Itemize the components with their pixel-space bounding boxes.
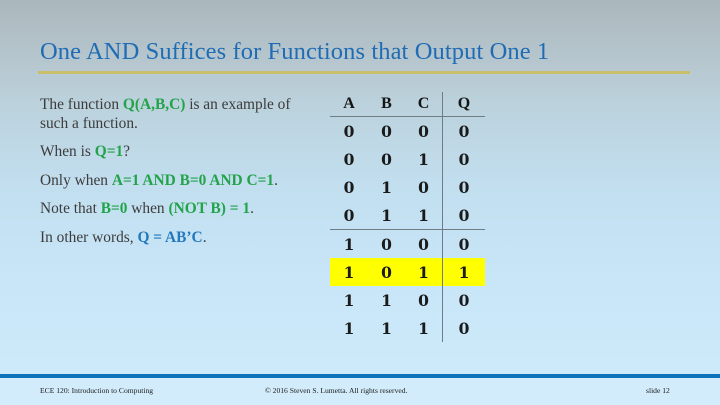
table-row: 0 0 0 0 [330, 117, 485, 146]
truth-table-grid: A B C Q 0 0 0 0 0 0 1 0 [330, 92, 485, 342]
cell-c: 0 [405, 286, 443, 314]
text-segment: . [250, 200, 254, 217]
body-text-column: The function Q(A,B,C) is an example of s… [40, 96, 312, 248]
text-segment: Note that [40, 200, 101, 217]
body-paragraph-2: When is Q=1? [40, 143, 312, 162]
cell-a: 1 [330, 314, 368, 342]
cell-q: 0 [443, 117, 486, 146]
cell-c: 0 [405, 230, 443, 259]
column-header-b: B [368, 92, 405, 117]
body-paragraph-5: In other words, Q = AB’C. [40, 229, 312, 248]
text-segment-green: A=1 AND B=0 AND C=1 [112, 172, 274, 189]
cell-b: 0 [368, 117, 405, 146]
table-row: 1 1 0 0 [330, 286, 485, 314]
truth-table-body: 0 0 0 0 0 0 1 0 0 1 0 0 0 [330, 117, 485, 343]
truth-table-header: A B C Q [330, 92, 485, 117]
text-segment-green: B=0 [101, 200, 128, 217]
cell-q: 0 [443, 314, 486, 342]
cell-b: 1 [368, 286, 405, 314]
text-segment: . [274, 172, 278, 189]
cell-q: 0 [443, 173, 486, 201]
text-segment-green: Q(A,B,C) [123, 96, 185, 113]
footer-slide-number: slide 12 [646, 386, 670, 395]
column-header-c: C [405, 92, 443, 117]
cell-b: 1 [368, 314, 405, 342]
cell-b: 1 [368, 201, 405, 230]
footer-course-label: ECE 120: Introduction to Computing [40, 386, 153, 395]
cell-b: 1 [368, 173, 405, 201]
column-header-a: A [330, 92, 368, 117]
body-paragraph-1: The function Q(A,B,C) is an example of s… [40, 96, 312, 133]
cell-c: 1 [405, 314, 443, 342]
text-segment: ? [123, 143, 130, 160]
table-row: 0 0 1 0 [330, 145, 485, 173]
cell-q: 0 [443, 201, 486, 230]
table-row-highlighted: 1 0 1 1 [330, 258, 485, 286]
cell-q: 0 [443, 145, 486, 173]
cell-q: 0 [443, 286, 486, 314]
text-segment: . [203, 229, 207, 246]
cell-a: 0 [330, 201, 368, 230]
page-title: One AND Suffices for Functions that Outp… [40, 38, 700, 66]
footer-copyright-label: © 2016 Steven S. Lumetta. All rights res… [265, 386, 407, 395]
text-segment: Only when [40, 172, 112, 189]
text-segment: When is [40, 143, 95, 160]
cell-a: 1 [330, 286, 368, 314]
cell-b: 0 [368, 145, 405, 173]
text-segment-green: (NOT B) = 1 [168, 200, 250, 217]
slide-footer: ECE 120: Introduction to Computing © 201… [0, 378, 720, 405]
cell-c: 1 [405, 258, 443, 286]
truth-table: A B C Q 0 0 0 0 0 0 1 0 [330, 92, 510, 342]
title-underline-rule [38, 71, 690, 74]
cell-b: 0 [368, 230, 405, 259]
cell-b: 0 [368, 258, 405, 286]
cell-q: 0 [443, 230, 486, 259]
cell-a: 1 [330, 258, 368, 286]
cell-a: 0 [330, 173, 368, 201]
cell-c: 1 [405, 145, 443, 173]
cell-a: 0 [330, 117, 368, 146]
text-segment-green: Q=1 [95, 143, 123, 160]
table-header-row: A B C Q [330, 92, 485, 117]
text-segment-blue: Q = AB’C [137, 229, 202, 246]
table-row: 1 0 0 0 [330, 230, 485, 259]
body-paragraph-3: Only when A=1 AND B=0 AND C=1. [40, 172, 312, 191]
text-segment: The function [40, 96, 123, 113]
cell-c: 0 [405, 173, 443, 201]
cell-a: 0 [330, 145, 368, 173]
table-row: 1 1 1 0 [330, 314, 485, 342]
cell-c: 0 [405, 117, 443, 146]
cell-a: 1 [330, 230, 368, 259]
slide-canvas: One AND Suffices for Functions that Outp… [0, 0, 720, 405]
cell-q: 1 [443, 258, 486, 286]
body-paragraph-4: Note that B=0 when (NOT B) = 1. [40, 200, 312, 219]
table-row: 0 1 0 0 [330, 173, 485, 201]
cell-c: 1 [405, 201, 443, 230]
column-header-q: Q [443, 92, 486, 117]
text-segment: when [127, 200, 168, 217]
table-row: 0 1 1 0 [330, 201, 485, 230]
text-segment: In other words, [40, 229, 137, 246]
